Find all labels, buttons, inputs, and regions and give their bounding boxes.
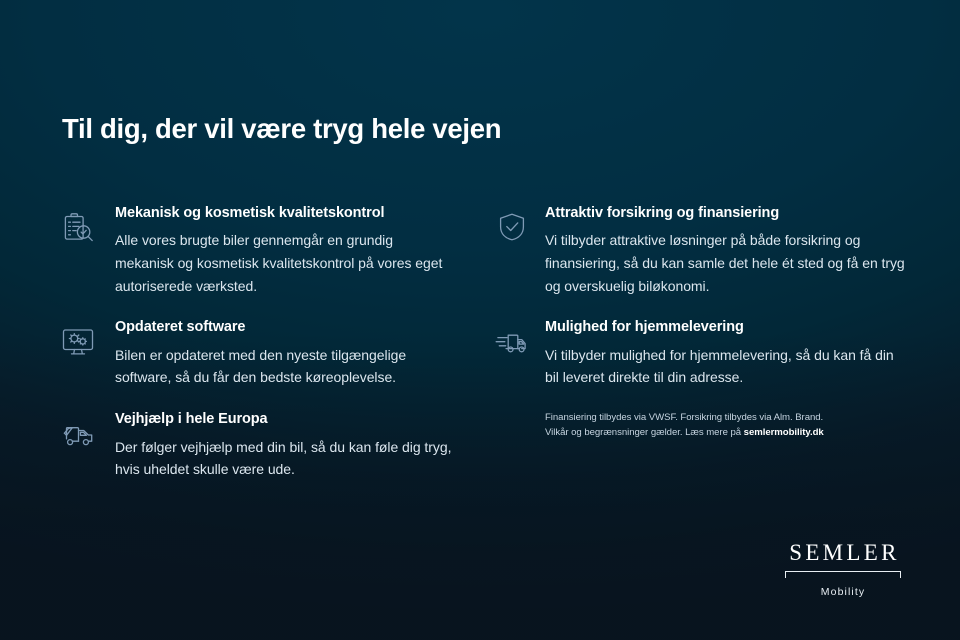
feature-text: Opdateret software Bilen er opdateret me… bbox=[115, 319, 455, 389]
feature-text: Vejhjælp i hele Europa Der følger vejhjæ… bbox=[115, 411, 455, 481]
tow-truck-icon bbox=[58, 413, 98, 453]
feature-item: Vejhjælp i hele Europa Der følger vejhjæ… bbox=[58, 411, 458, 481]
logo-wordmark: SEMLER bbox=[784, 541, 902, 564]
feature-description: Der følger vejhjælp med din bil, så du k… bbox=[115, 436, 455, 481]
left-feature-column: Mekanisk og kosmetisk kvalitetskontrol A… bbox=[58, 205, 458, 503]
feature-title: Mekanisk og kosmetisk kvalitetskontrol bbox=[115, 205, 455, 222]
feature-text: Attraktiv forsikring og finansiering Vi … bbox=[545, 205, 905, 297]
feature-text: Mulighed for hjemmelevering Vi tilbyder … bbox=[545, 319, 905, 389]
page-title: Til dig, der vil være tryg hele vejen bbox=[62, 113, 501, 145]
feature-item: Opdateret software Bilen er opdateret me… bbox=[58, 319, 458, 389]
disclaimer-line-2: Vilkår og begrænsninger gælder. Læs mere… bbox=[545, 426, 905, 441]
feature-description: Vi tilbyder mulighed for hjemmelevering,… bbox=[545, 344, 905, 389]
logo-divider-rule bbox=[785, 571, 901, 579]
slide-root: Til dig, der vil være tryg hele vejen Me… bbox=[0, 0, 960, 640]
disclaimer-text: Finansiering tilbydes via VWSF. Forsikri… bbox=[545, 411, 905, 441]
feature-title: Opdateret software bbox=[115, 319, 455, 336]
feature-title: Mulighed for hjemmelevering bbox=[545, 319, 905, 336]
disclaimer-line-2-prefix: Vilkår og begrænsninger gælder. Læs mere… bbox=[545, 427, 744, 438]
delivery-truck-icon bbox=[492, 321, 532, 361]
disclaimer-line-1: Finansiering tilbydes via VWSF. Forsikri… bbox=[545, 411, 905, 426]
clipboard-magnifier-icon bbox=[58, 207, 98, 247]
feature-text: Mekanisk og kosmetisk kvalitetskontrol A… bbox=[115, 205, 455, 297]
feature-title: Attraktiv forsikring og finansiering bbox=[545, 205, 905, 222]
monitor-gears-icon bbox=[58, 321, 98, 361]
shield-check-icon bbox=[492, 207, 532, 247]
feature-item: Mulighed for hjemmelevering Vi tilbyder … bbox=[492, 319, 912, 389]
semlermobility-link[interactable]: semlermobility.dk bbox=[744, 427, 824, 438]
feature-description: Vi tilbyder attraktive løsninger på både… bbox=[545, 229, 905, 297]
feature-description: Alle vores brugte biler gennemgår en gru… bbox=[115, 229, 455, 297]
feature-description: Bilen er opdateret med den nyeste tilgæn… bbox=[115, 344, 455, 389]
feature-item: Mekanisk og kosmetisk kvalitetskontrol A… bbox=[58, 205, 458, 297]
semler-mobility-logo: SEMLER Mobility bbox=[784, 541, 902, 598]
feature-item: Attraktiv forsikring og finansiering Vi … bbox=[492, 205, 912, 297]
right-feature-column: Attraktiv forsikring og finansiering Vi … bbox=[492, 205, 912, 441]
logo-subtitle: Mobility bbox=[784, 586, 902, 598]
feature-title: Vejhjælp i hele Europa bbox=[115, 411, 455, 428]
